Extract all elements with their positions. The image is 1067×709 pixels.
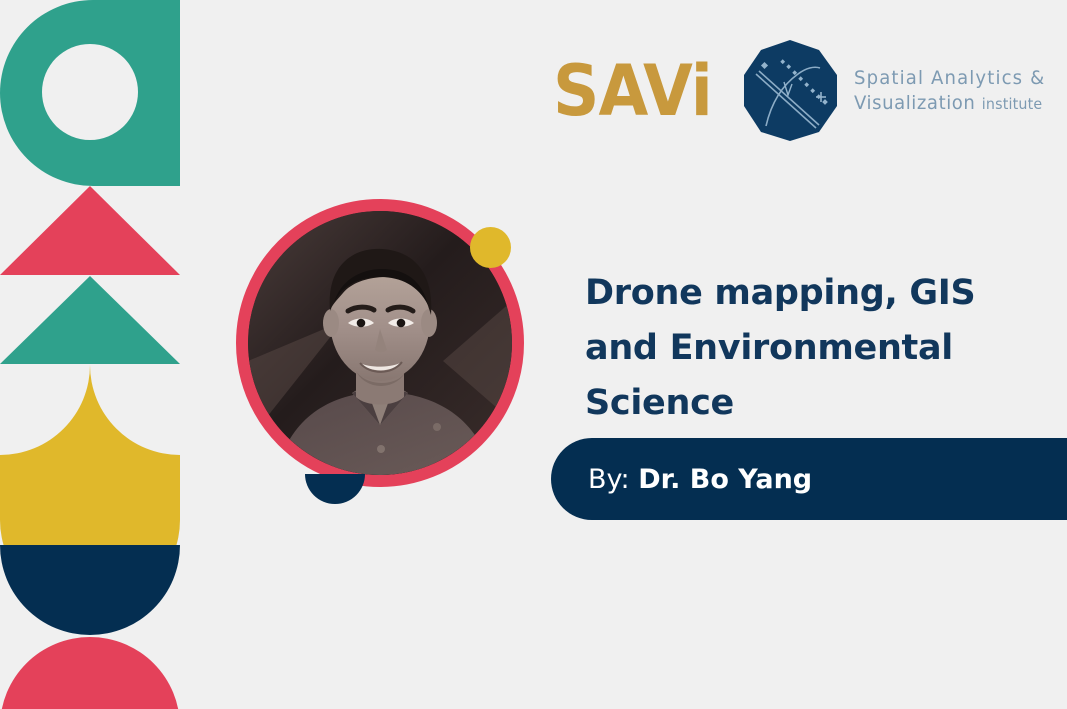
tagline-line-1: Spatial Analytics &: [854, 66, 1045, 90]
shape-semicircle-navy-icon: [0, 545, 180, 635]
shape-notch-left: [0, 365, 90, 455]
accent-dot-yellow-icon: [470, 227, 511, 268]
shape-triangle-red-icon: [0, 186, 180, 275]
page-title: Drone mapping, GIS and Environmental Sci…: [585, 266, 1005, 430]
savi-tagline: Spatial Analytics & Visualization instit…: [854, 66, 1055, 115]
savi-wordmark: SAVi: [553, 56, 712, 126]
shape-hole: [42, 44, 138, 140]
shape-rounded-square-with-hole-icon: [0, 0, 180, 186]
byline-prefix: By:: [588, 464, 630, 495]
speaker-byline-bar: By: Dr. Bo Yang: [551, 438, 1067, 520]
speaker-portrait-group: [236, 199, 536, 499]
savi-logo-lockup: SAVi: [553, 38, 1055, 143]
speaker-byline-text: By: Dr. Bo Yang: [588, 464, 812, 495]
presentation-slide: SAVi: [0, 0, 1067, 709]
tagline-line-2: Visualization institute: [854, 91, 1045, 115]
decorative-shape-column: [0, 0, 180, 709]
octagon-scatter-plot-icon: [740, 38, 840, 143]
tagline-line-2-strong: Visualization: [854, 92, 975, 114]
speaker-name: Dr. Bo Yang: [638, 464, 812, 495]
tagline-line-2-small: institute: [982, 95, 1043, 113]
shape-semicircle-red-icon: [0, 637, 180, 709]
shape-triangle-teal-icon: [0, 276, 180, 364]
shape-notch-right: [90, 365, 180, 455]
accent-semicircle-navy-icon: [305, 474, 365, 504]
